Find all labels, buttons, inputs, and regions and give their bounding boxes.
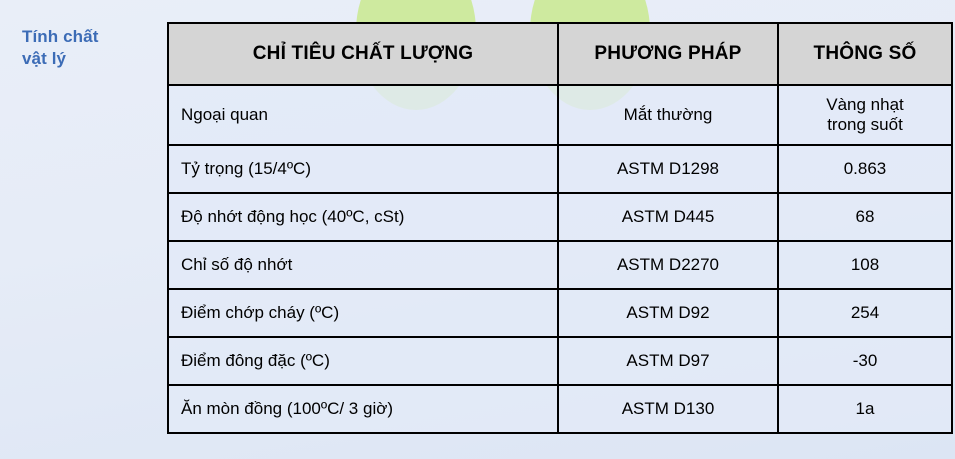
cell-method: ASTM D2270 [558,241,778,289]
cell-method: ASTM D445 [558,193,778,241]
section-caption: Tính chất vật lý [22,26,157,70]
cell-value: 68 [778,193,952,241]
table-row: Điểm chớp cháy (ºC) ASTM D92 254 [168,289,952,337]
column-header-value: THÔNG SỐ [778,23,952,85]
table-header-row: CHỈ TIÊU CHẤT LƯỢNG PHƯƠNG PHÁP THÔNG SỐ [168,23,952,85]
table-row: Độ nhớt động học (40ºC, cSt) ASTM D445 6… [168,193,952,241]
cell-criteria: Điểm đông đặc (ºC) [168,337,558,385]
table-body: Ngoại quan Mắt thường Vàng nhạt trong su… [168,85,952,433]
cell-method: ASTM D130 [558,385,778,433]
table-row: Tỷ trọng (15/4ºC) ASTM D1298 0.863 [168,145,952,193]
cell-criteria: Chỉ số độ nhớt [168,241,558,289]
cell-method: Mắt thường [558,85,778,145]
table-row: Ngoại quan Mắt thường Vàng nhạt trong su… [168,85,952,145]
cell-criteria: Ăn mòn đồng (100ºC/ 3 giờ) [168,385,558,433]
cell-method: ASTM D1298 [558,145,778,193]
specification-table: CHỈ TIÊU CHẤT LƯỢNG PHƯƠNG PHÁP THÔNG SỐ… [167,22,953,434]
cell-criteria: Ngoại quan [168,85,558,145]
cell-criteria: Điểm chớp cháy (ºC) [168,289,558,337]
cell-criteria: Tỷ trọng (15/4ºC) [168,145,558,193]
cell-value: -30 [778,337,952,385]
table-row: Điểm đông đặc (ºC) ASTM D97 -30 [168,337,952,385]
specification-table-container: CHỈ TIÊU CHẤT LƯỢNG PHƯƠNG PHÁP THÔNG SỐ… [167,22,951,434]
cell-value: Vàng nhạt trong suốt [778,85,952,145]
cell-value-line-2: trong suốt [779,115,951,135]
cell-method: ASTM D92 [558,289,778,337]
section-caption-line-2: vật lý [22,48,157,70]
cell-criteria: Độ nhớt động học (40ºC, cSt) [168,193,558,241]
section-caption-line-1: Tính chất [22,26,157,48]
column-header-method: PHƯƠNG PHÁP [558,23,778,85]
cell-value-line-1: Vàng nhạt [779,95,951,115]
cell-value: 108 [778,241,952,289]
table-row: Chỉ số độ nhớt ASTM D2270 108 [168,241,952,289]
cell-value: 0.863 [778,145,952,193]
table-header: CHỈ TIÊU CHẤT LƯỢNG PHƯƠNG PHÁP THÔNG SỐ [168,23,952,85]
cell-value: 1a [778,385,952,433]
cell-method: ASTM D97 [558,337,778,385]
cell-value: 254 [778,289,952,337]
table-row: Ăn mòn đồng (100ºC/ 3 giờ) ASTM D130 1a [168,385,952,433]
column-header-criteria: CHỈ TIÊU CHẤT LƯỢNG [168,23,558,85]
